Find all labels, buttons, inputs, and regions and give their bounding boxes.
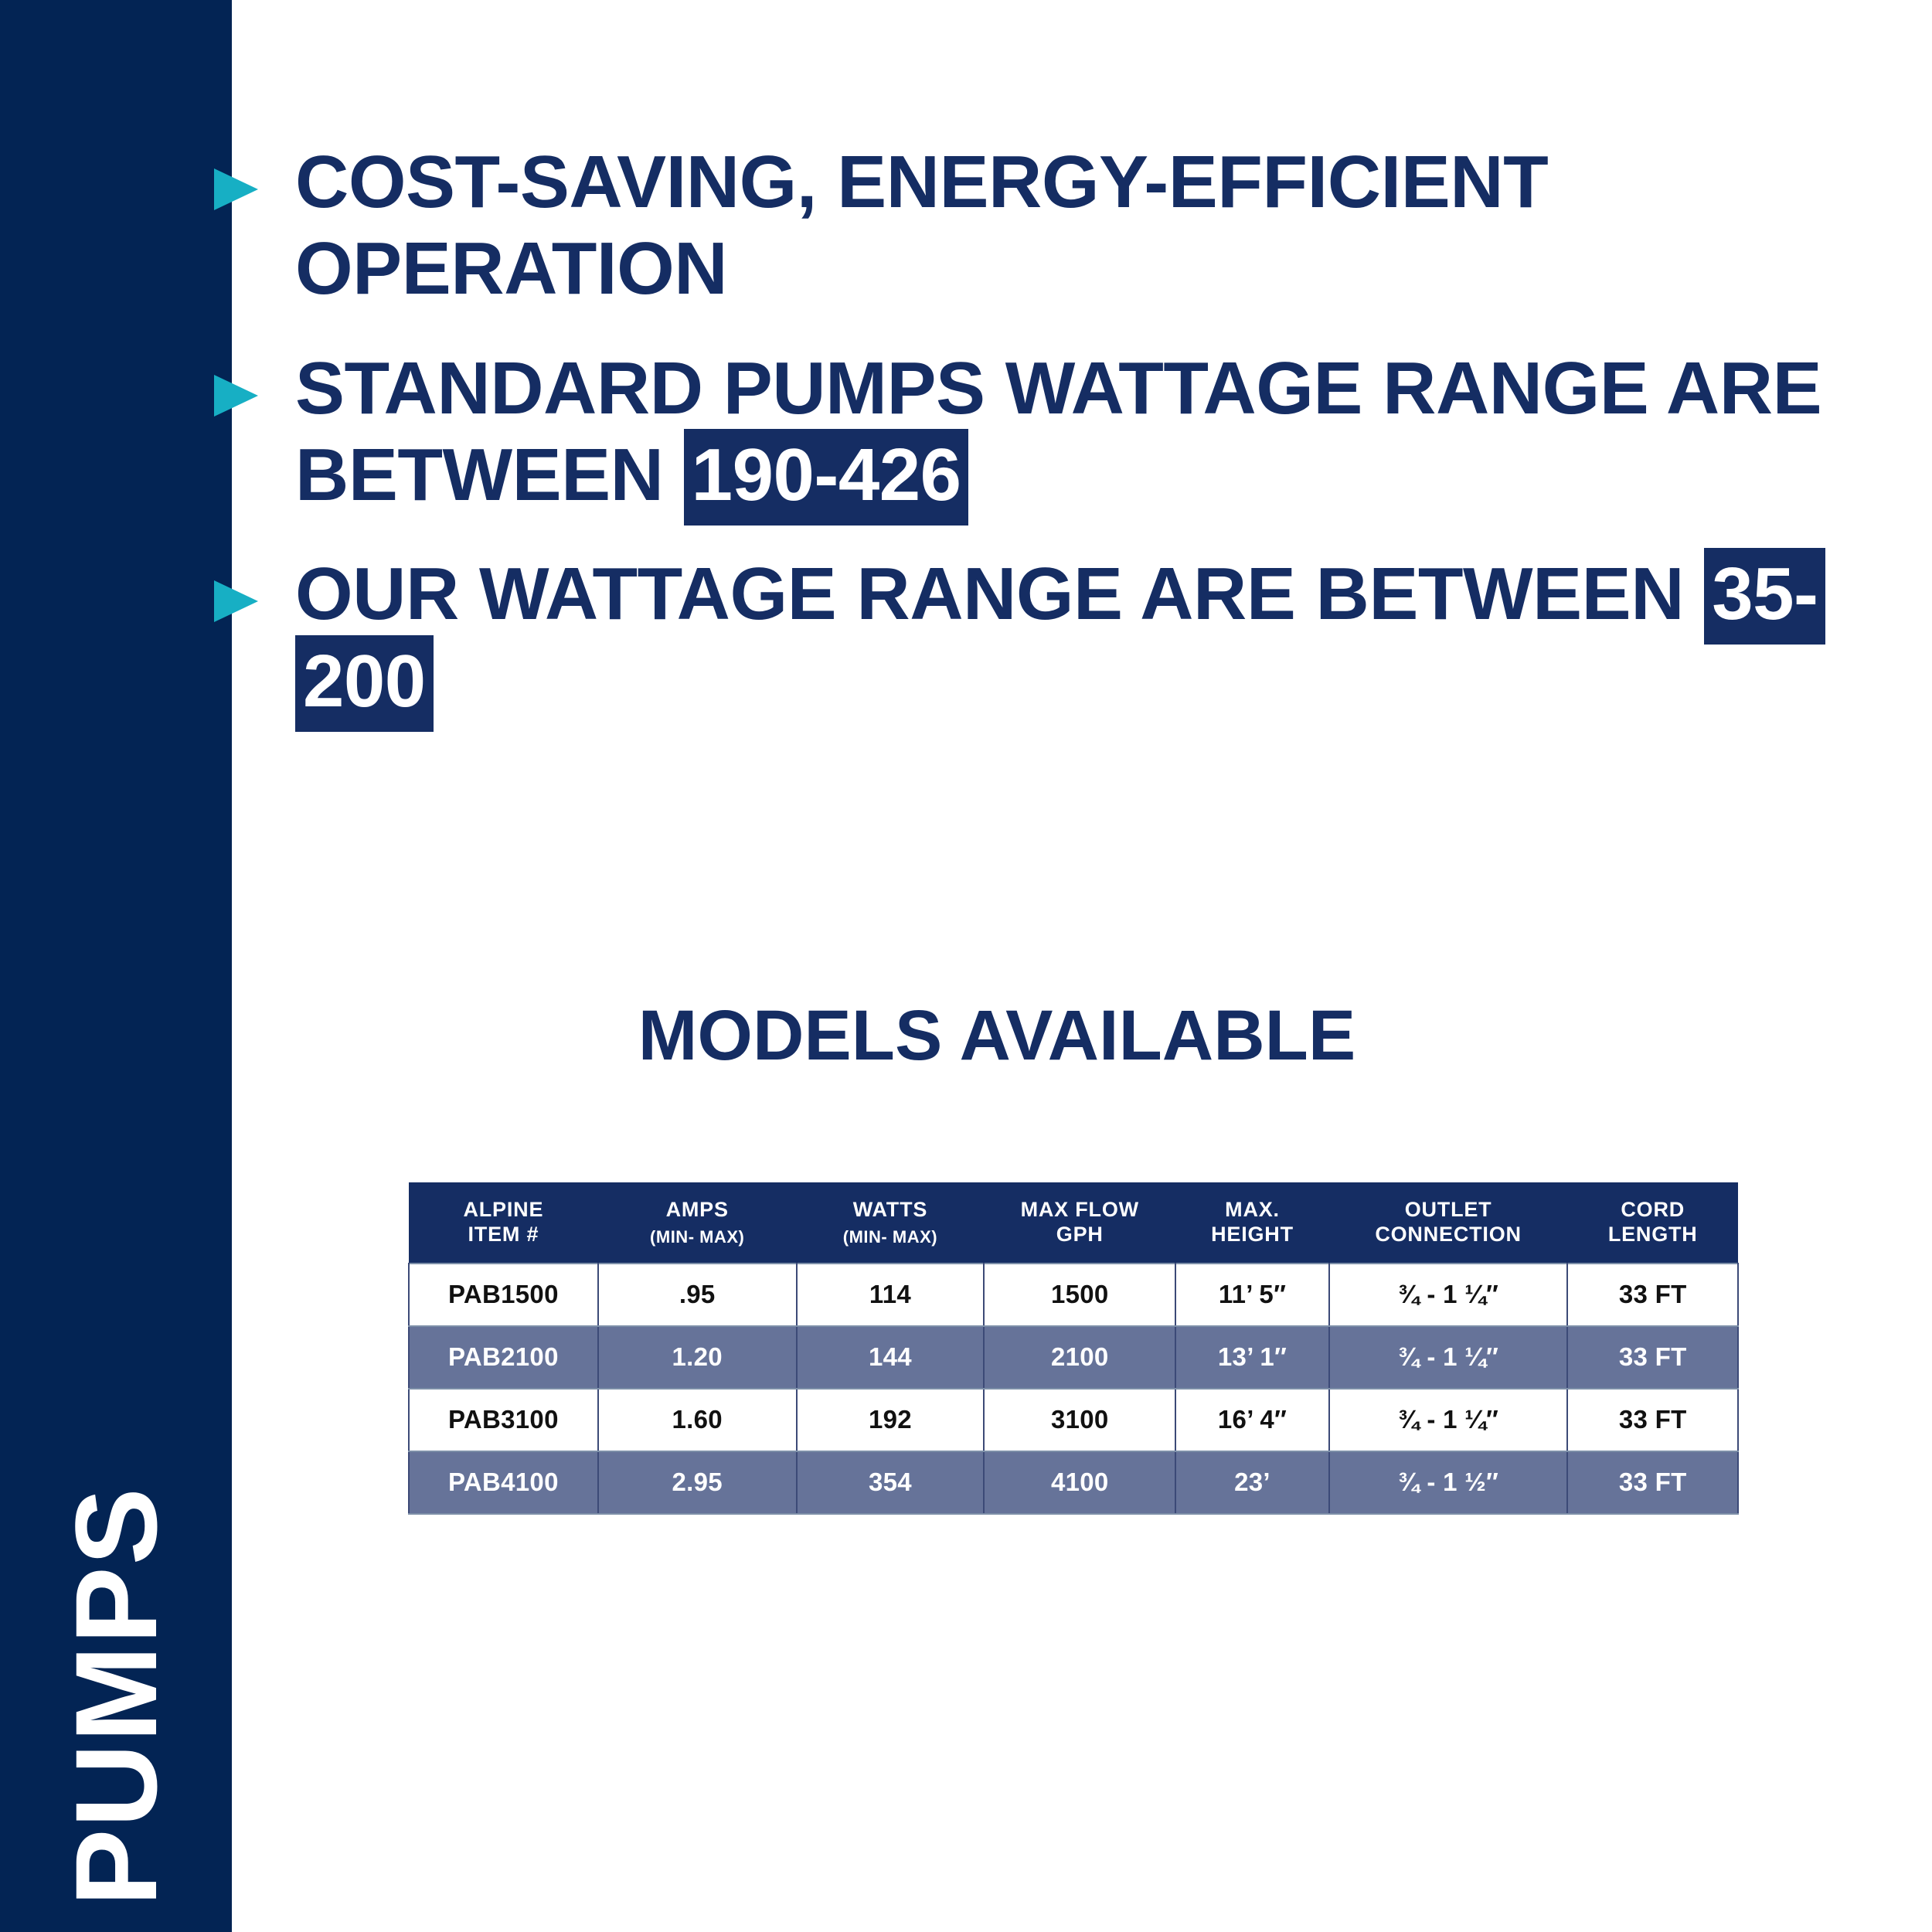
bullet-segment-plain: COST-SAVING, ENERGY-EFFICIENT OPERATION: [295, 141, 1548, 310]
triangle-right-icon: [214, 580, 258, 622]
cell-amps: 1.60: [598, 1389, 797, 1451]
column-header-line2: CONNECTION: [1332, 1223, 1565, 1247]
column-header-line2: ITEM #: [412, 1223, 595, 1247]
cell-max-flow-gph: 2100: [984, 1326, 1175, 1389]
column-header-line1: CORD: [1570, 1198, 1735, 1223]
column-header-alpine-item: ALPINE ITEM #: [409, 1182, 598, 1264]
bullet-text: STANDARD PUMPS WATTAGE RANGE ARE BETWEEN…: [232, 345, 1932, 519]
cell-cord-length: 33 FT: [1567, 1451, 1738, 1514]
table-row: PAB4100 2.95 354 4100 23’ ¾ - 1 ½″ 33 FT: [409, 1451, 1738, 1514]
column-header-line1: MAX.: [1179, 1198, 1325, 1223]
cell-max-flow-gph: 1500: [984, 1264, 1175, 1326]
column-header-line2: HEIGHT: [1179, 1223, 1325, 1247]
cell-watts: 192: [797, 1389, 985, 1451]
table-row: PAB1500 .95 114 1500 11’ 5″ ¾ - 1 ¼″ 33 …: [409, 1264, 1738, 1326]
models-table-container: ALPINE ITEM # AMPS (MIN- MAX) WATTS (MIN…: [408, 1182, 1739, 1515]
sidebar-category-label: PUMPS: [58, 1486, 174, 1906]
bullet-segment-highlight: 190-426: [684, 429, 969, 526]
column-header-cord-length: CORD LENGTH: [1567, 1182, 1738, 1264]
table-header-row: ALPINE ITEM # AMPS (MIN- MAX) WATTS (MIN…: [409, 1182, 1738, 1264]
bullet-text: COST-SAVING, ENERGY-EFFICIENT OPERATION: [232, 139, 1932, 313]
list-item: OUR WATTAGE RANGE ARE BETWEEN 35-200: [232, 551, 1932, 725]
cell-item: PAB1500: [409, 1264, 598, 1326]
cell-outlet-connection: ¾ - 1 ¼″: [1329, 1326, 1568, 1389]
main-content: COST-SAVING, ENERGY-EFFICIENT OPERATION …: [232, 0, 1932, 1932]
cell-outlet-connection: ¾ - 1 ¼″: [1329, 1389, 1568, 1451]
column-header-line1: WATTS: [800, 1198, 981, 1223]
column-header-outlet-connection: OUTLET CONNECTION: [1329, 1182, 1568, 1264]
column-header-line1: MAX FLOW: [987, 1198, 1172, 1223]
bullet-segment-plain: STANDARD PUMPS WATTAGE RANGE ARE BETWEEN: [295, 347, 1821, 516]
cell-item: PAB4100: [409, 1451, 598, 1514]
table-row: PAB2100 1.20 144 2100 13’ 1″ ¾ - 1 ¼″ 33…: [409, 1326, 1738, 1389]
cell-watts: 114: [797, 1264, 985, 1326]
sidebar-panel: PUMPS: [0, 0, 232, 1932]
cell-max-height: 11’ 5″: [1175, 1264, 1328, 1326]
bullet-segment-plain: OUR WATTAGE RANGE ARE BETWEEN: [295, 553, 1704, 635]
cell-amps: .95: [598, 1264, 797, 1326]
column-header-sub: (MIN- MAX): [601, 1227, 794, 1247]
column-header-max-height: MAX. HEIGHT: [1175, 1182, 1328, 1264]
column-header-line1: AMPS: [601, 1198, 794, 1223]
column-header-max-flow-gph: MAX FLOW GPH: [984, 1182, 1175, 1264]
triangle-right-icon: [214, 168, 258, 210]
cell-cord-length: 33 FT: [1567, 1389, 1738, 1451]
cell-max-height: 23’: [1175, 1451, 1328, 1514]
column-header-amps: AMPS (MIN- MAX): [598, 1182, 797, 1264]
models-spec-table: ALPINE ITEM # AMPS (MIN- MAX) WATTS (MIN…: [408, 1182, 1739, 1515]
feature-bullet-list: COST-SAVING, ENERGY-EFFICIENT OPERATION …: [232, 139, 1932, 757]
list-item: STANDARD PUMPS WATTAGE RANGE ARE BETWEEN…: [232, 345, 1932, 519]
column-header-watts: WATTS (MIN- MAX): [797, 1182, 985, 1264]
column-header-line1: ALPINE: [412, 1198, 595, 1223]
cell-item: PAB2100: [409, 1326, 598, 1389]
triangle-right-icon: [214, 375, 258, 417]
cell-watts: 354: [797, 1451, 985, 1514]
cell-outlet-connection: ¾ - 1 ½″: [1329, 1451, 1568, 1514]
cell-max-height: 13’ 1″: [1175, 1326, 1328, 1389]
column-header-line1: OUTLET: [1332, 1198, 1565, 1223]
cell-watts: 144: [797, 1326, 985, 1389]
cell-cord-length: 33 FT: [1567, 1326, 1738, 1389]
cell-outlet-connection: ¾ - 1 ¼″: [1329, 1264, 1568, 1326]
column-header-line2: GPH: [987, 1223, 1172, 1247]
list-item: COST-SAVING, ENERGY-EFFICIENT OPERATION: [232, 139, 1932, 313]
cell-amps: 2.95: [598, 1451, 797, 1514]
bullet-text: OUR WATTAGE RANGE ARE BETWEEN 35-200: [232, 551, 1932, 725]
table-row: PAB3100 1.60 192 3100 16’ 4″ ¾ - 1 ¼″ 33…: [409, 1389, 1738, 1451]
column-header-sub: (MIN- MAX): [800, 1227, 981, 1247]
cell-max-flow-gph: 3100: [984, 1389, 1175, 1451]
cell-amps: 1.20: [598, 1326, 797, 1389]
cell-item: PAB3100: [409, 1389, 598, 1451]
cell-cord-length: 33 FT: [1567, 1264, 1738, 1326]
cell-max-height: 16’ 4″: [1175, 1389, 1328, 1451]
cell-max-flow-gph: 4100: [984, 1451, 1175, 1514]
column-header-line2: LENGTH: [1570, 1223, 1735, 1247]
models-available-title: MODELS AVAILABLE: [232, 995, 1762, 1077]
